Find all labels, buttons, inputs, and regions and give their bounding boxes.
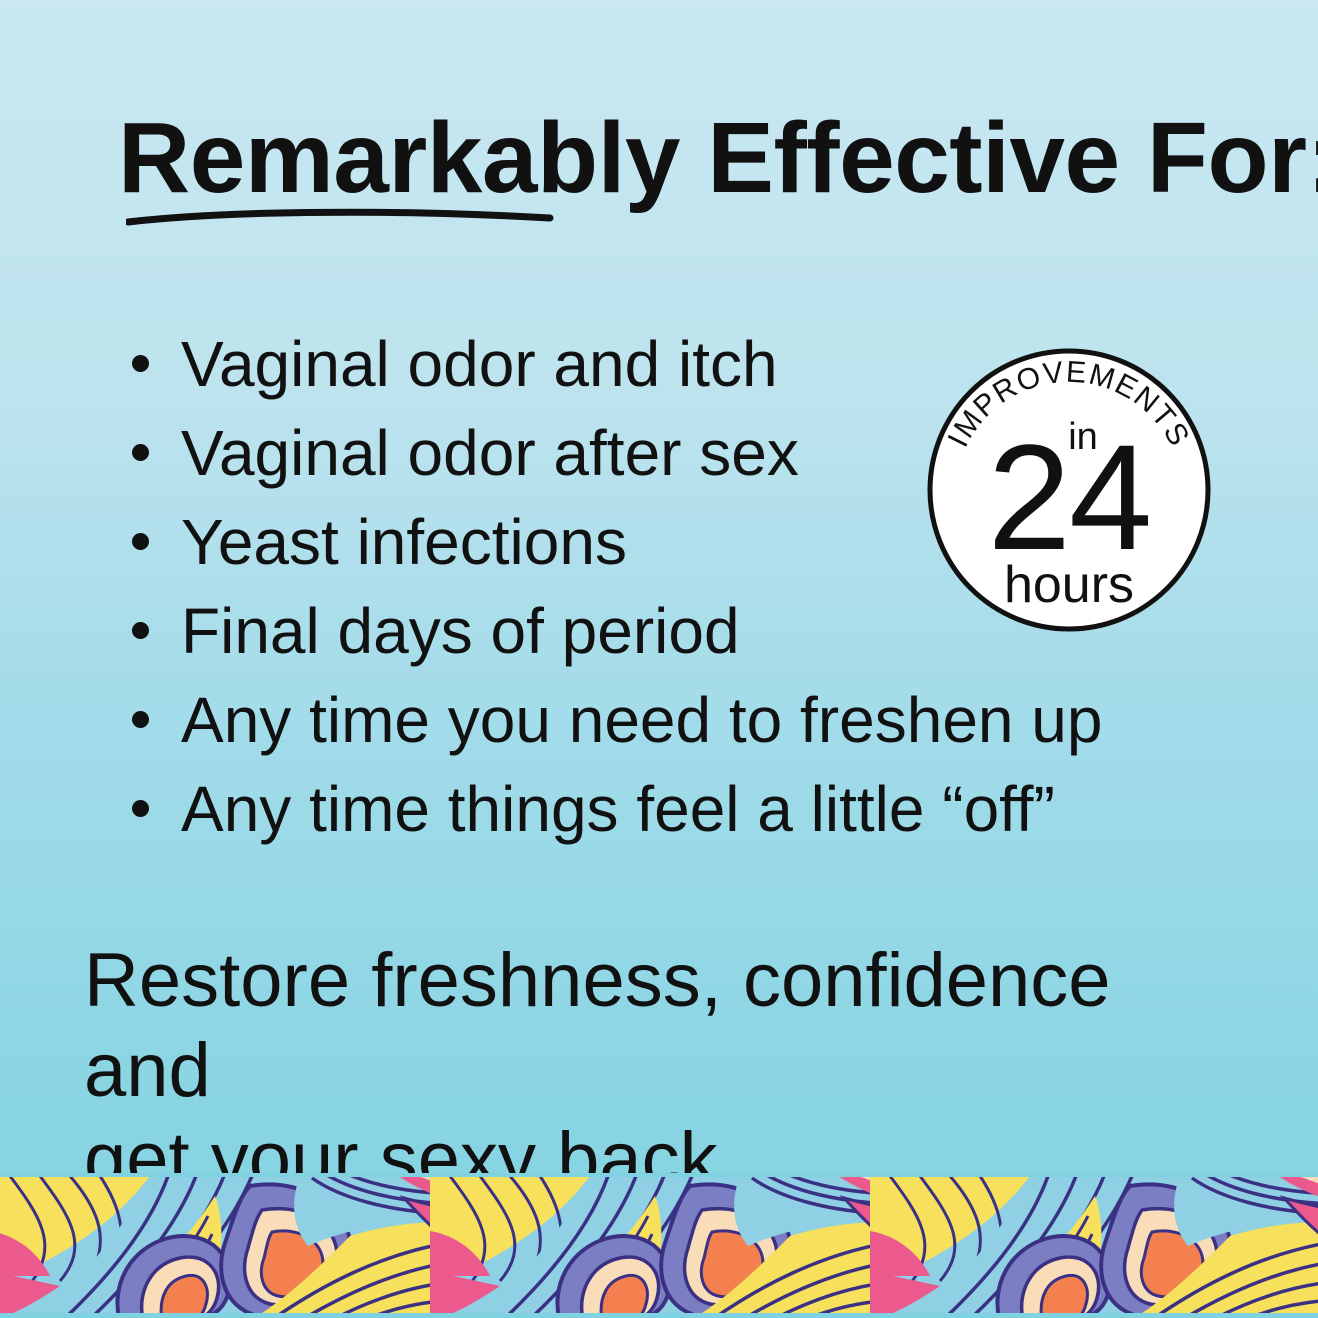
list-item-label: Vaginal odor after sex: [181, 421, 799, 485]
bullet-dot-icon: [132, 711, 149, 728]
badge-unit: hours: [1004, 556, 1134, 614]
list-item: Vaginal odor and itch: [132, 332, 932, 421]
list-item-label: Final days of period: [181, 599, 740, 663]
bullet-dot-icon: [132, 622, 149, 639]
list-item: Final days of period: [132, 599, 932, 688]
list-item-label: Yeast infections: [181, 510, 627, 574]
bullet-dot-icon: [132, 800, 149, 817]
list-item: Yeast infections: [132, 510, 932, 599]
list-item-label: Vaginal odor and itch: [181, 332, 778, 396]
list-item-label: Any time things feel a little “off”: [181, 777, 1055, 841]
list-item-label: Any time you need to freshen up: [181, 688, 1102, 752]
closing-line-1: Restore freshness, confidence and: [84, 936, 1244, 1115]
improvements-badge: IMPROVEMENTS in 24 hours: [925, 346, 1213, 634]
paisley-pattern-icon: [0, 1173, 1318, 1318]
bullet-dot-icon: [132, 444, 149, 461]
closing-statement: Restore freshness, confidence and get yo…: [84, 936, 1244, 1205]
page-title: Remarkably Effective For:: [118, 108, 1318, 208]
list-item: Any time things feel a little “off”: [132, 777, 932, 866]
bullet-dot-icon: [132, 533, 149, 550]
list-item: Any time you need to freshen up: [132, 688, 932, 777]
bullet-dot-icon: [132, 355, 149, 372]
list-item: Vaginal odor after sex: [132, 421, 932, 510]
promo-card: Remarkably Effective For: Vaginal odor a…: [0, 0, 1318, 1318]
benefits-list: Vaginal odor and itch Vaginal odor after…: [132, 332, 932, 866]
decorative-border: [0, 1173, 1318, 1318]
